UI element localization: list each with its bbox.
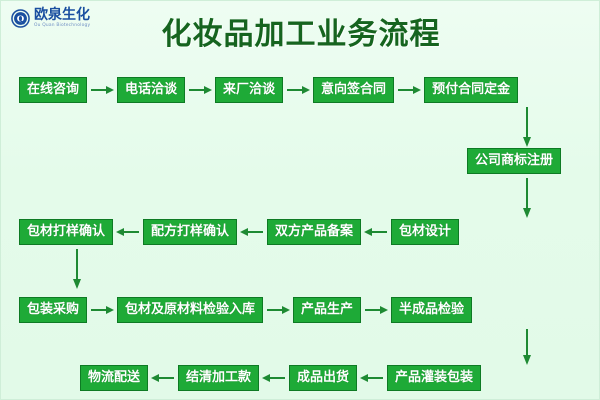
arrow-left-icon <box>259 366 289 390</box>
arrow-right-icon <box>87 298 117 322</box>
flow-node-logistics-delivery[interactable]: 物流配送 <box>80 365 148 391</box>
flow-node-semi-finished-inspection[interactable]: 半成品检验 <box>391 297 472 323</box>
arrow-down-icon <box>70 247 84 291</box>
flow-node-factory-visit[interactable]: 来厂洽谈 <box>215 77 283 103</box>
flow-node-formula-sample-confirm[interactable]: 配方打样确认 <box>143 219 237 245</box>
arrow-left-icon <box>148 366 178 390</box>
arrow-right-icon <box>394 78 424 102</box>
flow-node-sign-intent-contract[interactable]: 意向签合同 <box>313 77 394 103</box>
arrow-right-icon <box>361 298 391 322</box>
arrow-left-icon <box>357 366 387 390</box>
flow-row-1: 在线咨询 电话洽谈 来厂洽谈 意向签合同 预付合同定金 <box>19 77 518 103</box>
arrow-left-icon <box>237 220 267 244</box>
flow-node-online-consult[interactable]: 在线咨询 <box>19 77 87 103</box>
flow-node-product-filing[interactable]: 双方产品备案 <box>267 219 361 245</box>
arrow-down-icon <box>520 176 534 220</box>
arrow-left-icon <box>113 220 143 244</box>
flow-node-packaging-design[interactable]: 包材设计 <box>391 219 459 245</box>
page-title: 化妆品加工业务流程 <box>1 9 600 53</box>
flow-node-phone-negotiation[interactable]: 电话洽谈 <box>117 77 185 103</box>
flow-row-5: 物流配送 结清加工款 成品出货 产品灌装包装 <box>80 365 481 391</box>
flow-row-4: 包装采购 包材及原材料检验入库 产品生产 半成品检验 <box>19 297 472 323</box>
arrow-left-icon <box>361 220 391 244</box>
arrow-right-icon <box>185 78 215 102</box>
arrow-right-icon <box>87 78 117 102</box>
flow-node-packaging-sample-confirm[interactable]: 包材打样确认 <box>19 219 113 245</box>
flow-node-material-inspection-storage[interactable]: 包材及原材料检验入库 <box>117 297 263 323</box>
flow-node-finished-goods-shipment[interactable]: 成品出货 <box>289 365 357 391</box>
flow-row-3: 包材打样确认 配方打样确认 双方产品备案 包材设计 <box>19 219 459 245</box>
arrow-down-icon <box>520 325 534 369</box>
arrow-right-icon <box>283 78 313 102</box>
flowchart-page: Q 欧泉生化 Ou Quan Biotechnology 化妆品加工业务流程 在… <box>0 0 600 400</box>
flow-node-prepay-deposit[interactable]: 预付合同定金 <box>424 77 518 103</box>
flow-row-2: 公司商标注册 <box>467 148 561 174</box>
flow-node-packaging-purchase[interactable]: 包装采购 <box>19 297 87 323</box>
flow-node-production[interactable]: 产品生产 <box>293 297 361 323</box>
arrow-right-icon <box>263 298 293 322</box>
flow-node-filling-packaging[interactable]: 产品灌装包装 <box>387 365 481 391</box>
flow-node-settle-payment[interactable]: 结清加工款 <box>178 365 259 391</box>
arrow-down-icon <box>520 105 534 149</box>
flow-node-trademark-registration[interactable]: 公司商标注册 <box>467 148 561 174</box>
